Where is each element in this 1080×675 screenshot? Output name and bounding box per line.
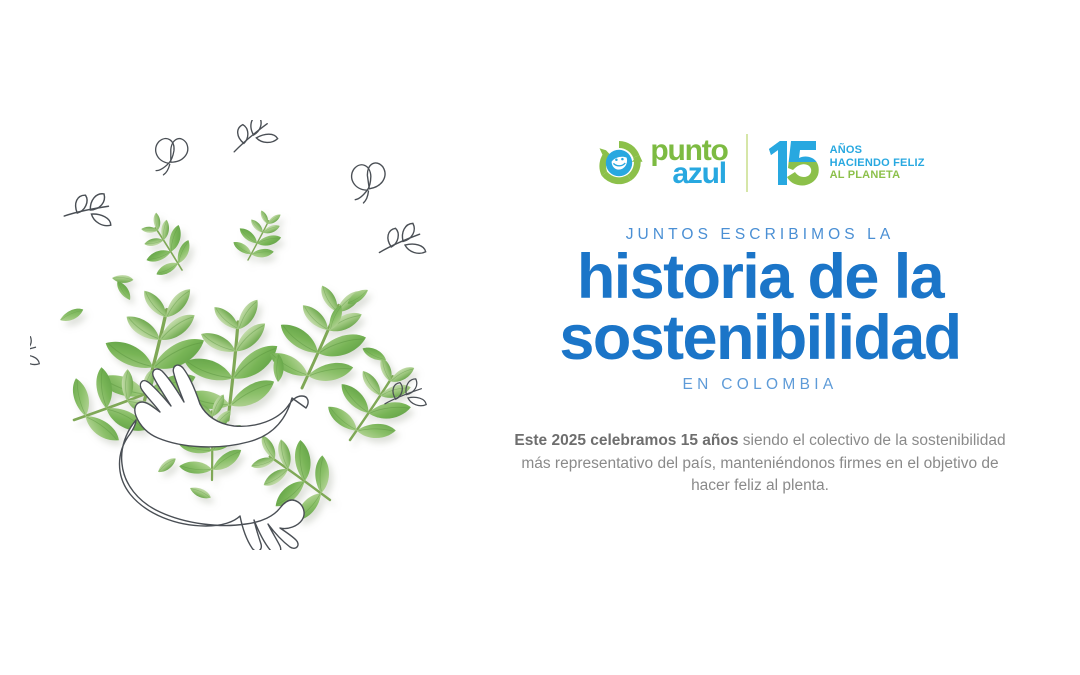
anniversary-line-1: AÑOS bbox=[830, 144, 925, 157]
doodle-leaf-sprig-right bbox=[379, 220, 428, 257]
logo-divider bbox=[746, 134, 748, 192]
headline-subline: EN COLOMBIA bbox=[480, 376, 1040, 394]
doodle-butterfly-top-right bbox=[350, 162, 389, 204]
arms-hugging-plants-illustration bbox=[30, 120, 480, 550]
anniversary-number-15-icon bbox=[766, 137, 822, 189]
doodle-leaf-sprig-bottom-left bbox=[30, 331, 44, 369]
body-paragraph: Este 2025 celebramos 15 años siendo el c… bbox=[480, 430, 1040, 498]
body-bold-lead: Este 2025 celebramos 15 años bbox=[514, 432, 738, 449]
brand-word-azul: azul bbox=[672, 162, 726, 187]
anniversary-tagline: AÑOS HACIENDO FELIZ AL PLANETA bbox=[830, 144, 925, 182]
green-plant-sprigs bbox=[56, 201, 432, 531]
punto-azul-wordmark: punto azul bbox=[650, 139, 727, 186]
headline-block: JUNTOS ESCRIBIMOS LA historia de la sost… bbox=[480, 226, 1040, 394]
anniversary-line-2: HACIENDO FELIZ bbox=[830, 157, 925, 170]
content-column: punto azul bbox=[480, 130, 1040, 498]
anniversary-line-3: AL PLANETA bbox=[830, 169, 925, 182]
punto-azul-recycle-logo-icon bbox=[595, 139, 643, 187]
doodle-butterfly-top-left bbox=[156, 139, 188, 175]
punto-azul-logo: punto azul bbox=[595, 139, 727, 187]
logo-row: punto azul bbox=[480, 130, 1040, 196]
headline-line-1: historia de la bbox=[480, 247, 1040, 308]
doodle-leaf-sprig-top-center bbox=[229, 120, 279, 152]
promo-banner: punto azul bbox=[0, 0, 1080, 675]
doodle-leaf-sprig-left bbox=[64, 184, 119, 230]
anniversary-lockup: AÑOS HACIENDO FELIZ AL PLANETA bbox=[766, 137, 925, 189]
headline-line-2: sostenibilidad bbox=[480, 308, 1040, 369]
